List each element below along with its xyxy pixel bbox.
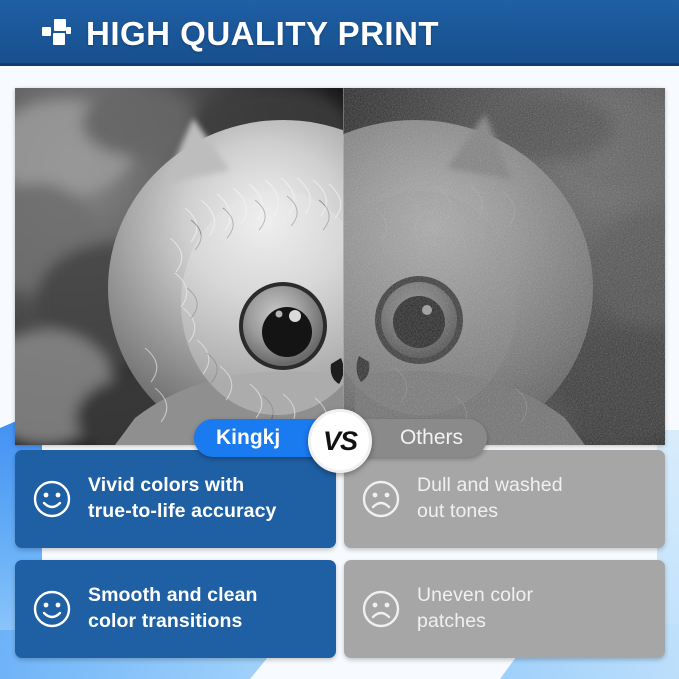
benefit-card-1-text: Vivid colors with true-to-life accuracy [88, 473, 277, 524]
benefit-card-2-line1: Smooth and clean [88, 584, 258, 606]
drawback-card-2-text: Uneven color patches [417, 583, 533, 634]
smiley-face-icon [32, 479, 72, 519]
comparison-cards: Vivid colors with true-to-life accuracy … [15, 450, 665, 662]
benefit-card-2-line2: color transitions [88, 610, 242, 632]
sad-face-icon [361, 589, 401, 629]
drawback-card-1: Dull and washed out tones [344, 450, 665, 548]
header-banner: HIGH QUALITY PRINT [0, 0, 679, 66]
brand-label: Kingkj [216, 426, 280, 450]
vs-badge-label: VS [323, 428, 357, 455]
drawback-card-1-line2: out tones [417, 500, 498, 522]
drawback-card-2-line1: Uneven color [417, 584, 533, 606]
drawback-card-1-text: Dull and washed out tones [417, 473, 563, 524]
benefit-card-1-line1: Vivid colors with [88, 474, 244, 496]
smiley-face-icon [32, 589, 72, 629]
vs-badge-icon: VS [308, 409, 372, 473]
page-title: HIGH QUALITY PRINT [86, 17, 439, 50]
drawback-card-2-line2: patches [417, 610, 486, 632]
owl-photo-image [15, 88, 665, 445]
others-label: Others [400, 426, 463, 450]
comparison-photo [15, 88, 665, 445]
puzzle-blocks-icon [42, 18, 72, 48]
benefit-card-2-text: Smooth and clean color transitions [88, 583, 258, 634]
drawback-card-1-line1: Dull and washed [417, 474, 563, 496]
drawback-card-2: Uneven color patches [344, 560, 665, 658]
benefit-card-1: Vivid colors with true-to-life accuracy [15, 450, 336, 548]
benefit-card-1-line2: true-to-life accuracy [88, 500, 277, 522]
benefit-card-2: Smooth and clean color transitions [15, 560, 336, 658]
product-infographic: HIGH QUALITY PRINT [0, 0, 679, 679]
sad-face-icon [361, 479, 401, 519]
